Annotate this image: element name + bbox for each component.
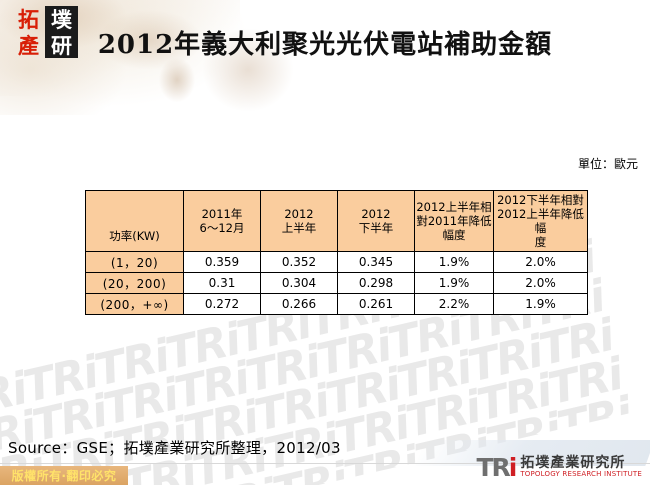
row-label: (200，+∞) — [86, 294, 184, 315]
col-header-drop-h1-line2: 對2011年降低 — [416, 214, 491, 228]
source-note: Source：GSE；拓墣產業研究所整理，2012/03 — [8, 437, 341, 458]
cell-drop-h1-vs-2011: 2.2% — [415, 294, 494, 315]
tri-name-block: 拓墣產業研究所 TOPOLOGY RESEARCH INSTITUTE — [520, 456, 642, 478]
col-header-drop-h2-vs-h1: 2012下半年相對 2012上半年降低幅 度 — [494, 191, 588, 252]
col-header-power: 功率(KW) — [86, 191, 184, 252]
cell-2012-h1: 0.352 — [261, 252, 338, 273]
subsidy-table-container: 功率(KW) 2011年 6〜12月 2012 上半年 2012 下半年 — [85, 190, 567, 315]
col-header-drop-h2-line3: 度 — [535, 235, 547, 249]
cell-2012-h2: 0.298 — [338, 273, 415, 294]
tri-footer-logo: TRi 拓墣產業研究所 TOPOLOGY RESEARCH INSTITUTE — [476, 455, 642, 480]
col-header-power-label: 功率(KW) — [109, 229, 159, 243]
col-header-2012-h1: 2012 上半年 — [261, 191, 338, 252]
col-header-drop-h1-line1: 2012上半年相 — [416, 200, 491, 214]
cell-2012-h1: 0.304 — [261, 273, 338, 294]
cell-drop-h2-vs-h1: 2.0% — [494, 273, 588, 294]
row-label: (1，20) — [86, 252, 184, 273]
table-header: 功率(KW) 2011年 6〜12月 2012 上半年 2012 下半年 — [86, 191, 588, 252]
table-row: (200，+∞) 0.272 0.266 0.261 2.2% 1.9% — [86, 294, 588, 315]
cell-drop-h2-vs-h1: 2.0% — [494, 252, 588, 273]
col-header-2012-h1-line1: 2012 — [284, 207, 313, 221]
cell-drop-h1-vs-2011: 1.9% — [415, 273, 494, 294]
cell-drop-h2-vs-h1: 1.9% — [494, 294, 588, 315]
slide-title: 2012年義大利聚光光伏電站補助金額 — [0, 24, 650, 61]
cell-2012-h2: 0.261 — [338, 294, 415, 315]
tri-name-en: TOPOLOGY RESEARCH INSTITUTE — [520, 471, 642, 478]
cell-2011-h2: 0.272 — [184, 294, 261, 315]
row-label: (20，200) — [86, 273, 184, 294]
slide-canvas: 拓 墣 產 研 2012年義大利聚光光伏電站補助金額 TRiTRiTRiTRiT… — [0, 0, 650, 485]
tri-wordmark: TRi — [476, 455, 515, 480]
col-header-drop-h1-vs-2011: 2012上半年相 對2011年降低 幅度 — [415, 191, 494, 252]
cell-2012-h1: 0.266 — [261, 294, 338, 315]
col-header-2011-h2-line1: 2011年 — [202, 207, 243, 221]
col-header-drop-h2-line2: 2012上半年降低幅 — [497, 207, 584, 235]
subsidy-table: 功率(KW) 2011年 6〜12月 2012 上半年 2012 下半年 — [85, 190, 588, 315]
col-header-2011-h2: 2011年 6〜12月 — [184, 191, 261, 252]
table-body: (1，20) 0.359 0.352 0.345 1.9% 2.0% (20，2… — [86, 252, 588, 315]
col-header-2012-h1-line2: 上半年 — [282, 221, 317, 235]
col-header-2012-h2-line2: 下半年 — [359, 221, 394, 235]
copyright-badge: 版權所有‧翻印必究 — [0, 466, 128, 485]
table-row: (20，200) 0.31 0.304 0.298 1.9% 2.0% — [86, 273, 588, 294]
col-header-2011-h2-line2: 6〜12月 — [200, 221, 245, 235]
unit-note: 單位：歐元 — [578, 155, 638, 172]
cell-2011-h2: 0.31 — [184, 273, 261, 294]
col-header-drop-h1-line3: 幅度 — [443, 228, 466, 242]
cell-drop-h1-vs-2011: 1.9% — [415, 252, 494, 273]
col-header-2012-h2: 2012 下半年 — [338, 191, 415, 252]
cell-2011-h2: 0.359 — [184, 252, 261, 273]
tri-wordmark-i: i — [509, 453, 516, 482]
tri-name-cn: 拓墣產業研究所 — [520, 456, 642, 471]
cell-2012-h2: 0.345 — [338, 252, 415, 273]
table-header-row: 功率(KW) 2011年 6〜12月 2012 上半年 2012 下半年 — [86, 191, 588, 252]
table-row: (1，20) 0.359 0.352 0.345 1.9% 2.0% — [86, 252, 588, 273]
col-header-drop-h2-line1: 2012下半年相對 — [497, 193, 584, 207]
col-header-2012-h2-line1: 2012 — [361, 207, 390, 221]
